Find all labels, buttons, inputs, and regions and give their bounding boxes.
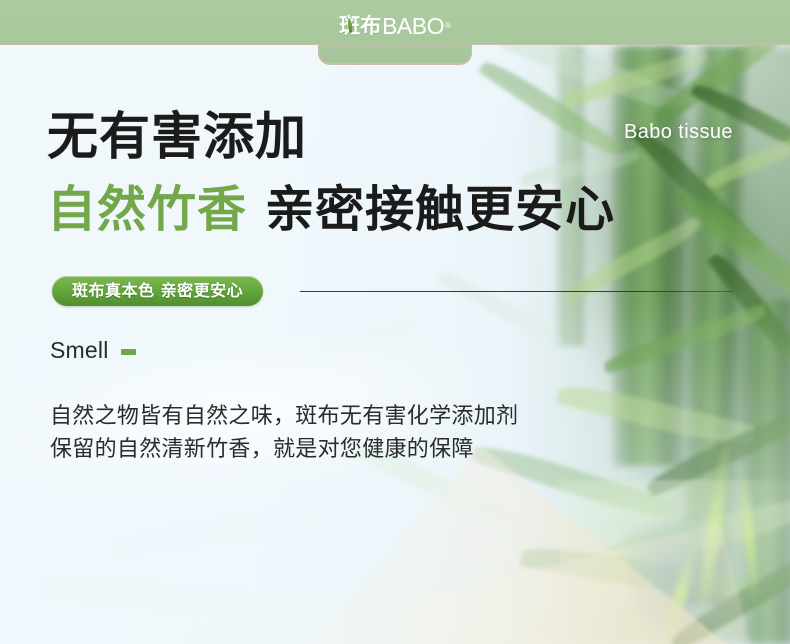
content-layer: 无有害添加 自然竹香 亲密接触更安心 Babo tissue 斑布真本色 亲密更… [0, 0, 790, 644]
headline-line-2: 自然竹香 亲密接触更安心 [47, 185, 615, 234]
body-paragraph-line-1: 自然之物皆有自然之味，斑布无有害化学添加剂 [50, 400, 670, 433]
section-label-row: Smell [50, 337, 136, 364]
section-label: Smell [50, 337, 109, 364]
headline-line-1: 无有害添加 [47, 112, 307, 163]
slogan-badge-label: 斑布真本色 亲密更安心 [72, 283, 243, 299]
slogan-badge: 斑布真本色 亲密更安心 [52, 276, 263, 306]
body-paragraph-line-2: 保留的自然清新竹香，就是对您健康的保障 [50, 433, 670, 466]
watermark-text: Babo tissue [624, 121, 733, 144]
headline-line-2-accent: 自然竹香 [47, 181, 247, 238]
dash-icon [121, 349, 136, 355]
headline-line-2-rest: 亲密接触更安心 [247, 181, 615, 238]
promo-banner-page: 斑布 BABO ® 无有害添加 自然竹香 亲密接触更安心 Babo tissue… [0, 0, 790, 644]
badge-divider-line [300, 291, 733, 292]
body-paragraph: 自然之物皆有自然之味，斑布无有害化学添加剂 保留的自然清新竹香，就是对您健康的保… [50, 400, 670, 466]
